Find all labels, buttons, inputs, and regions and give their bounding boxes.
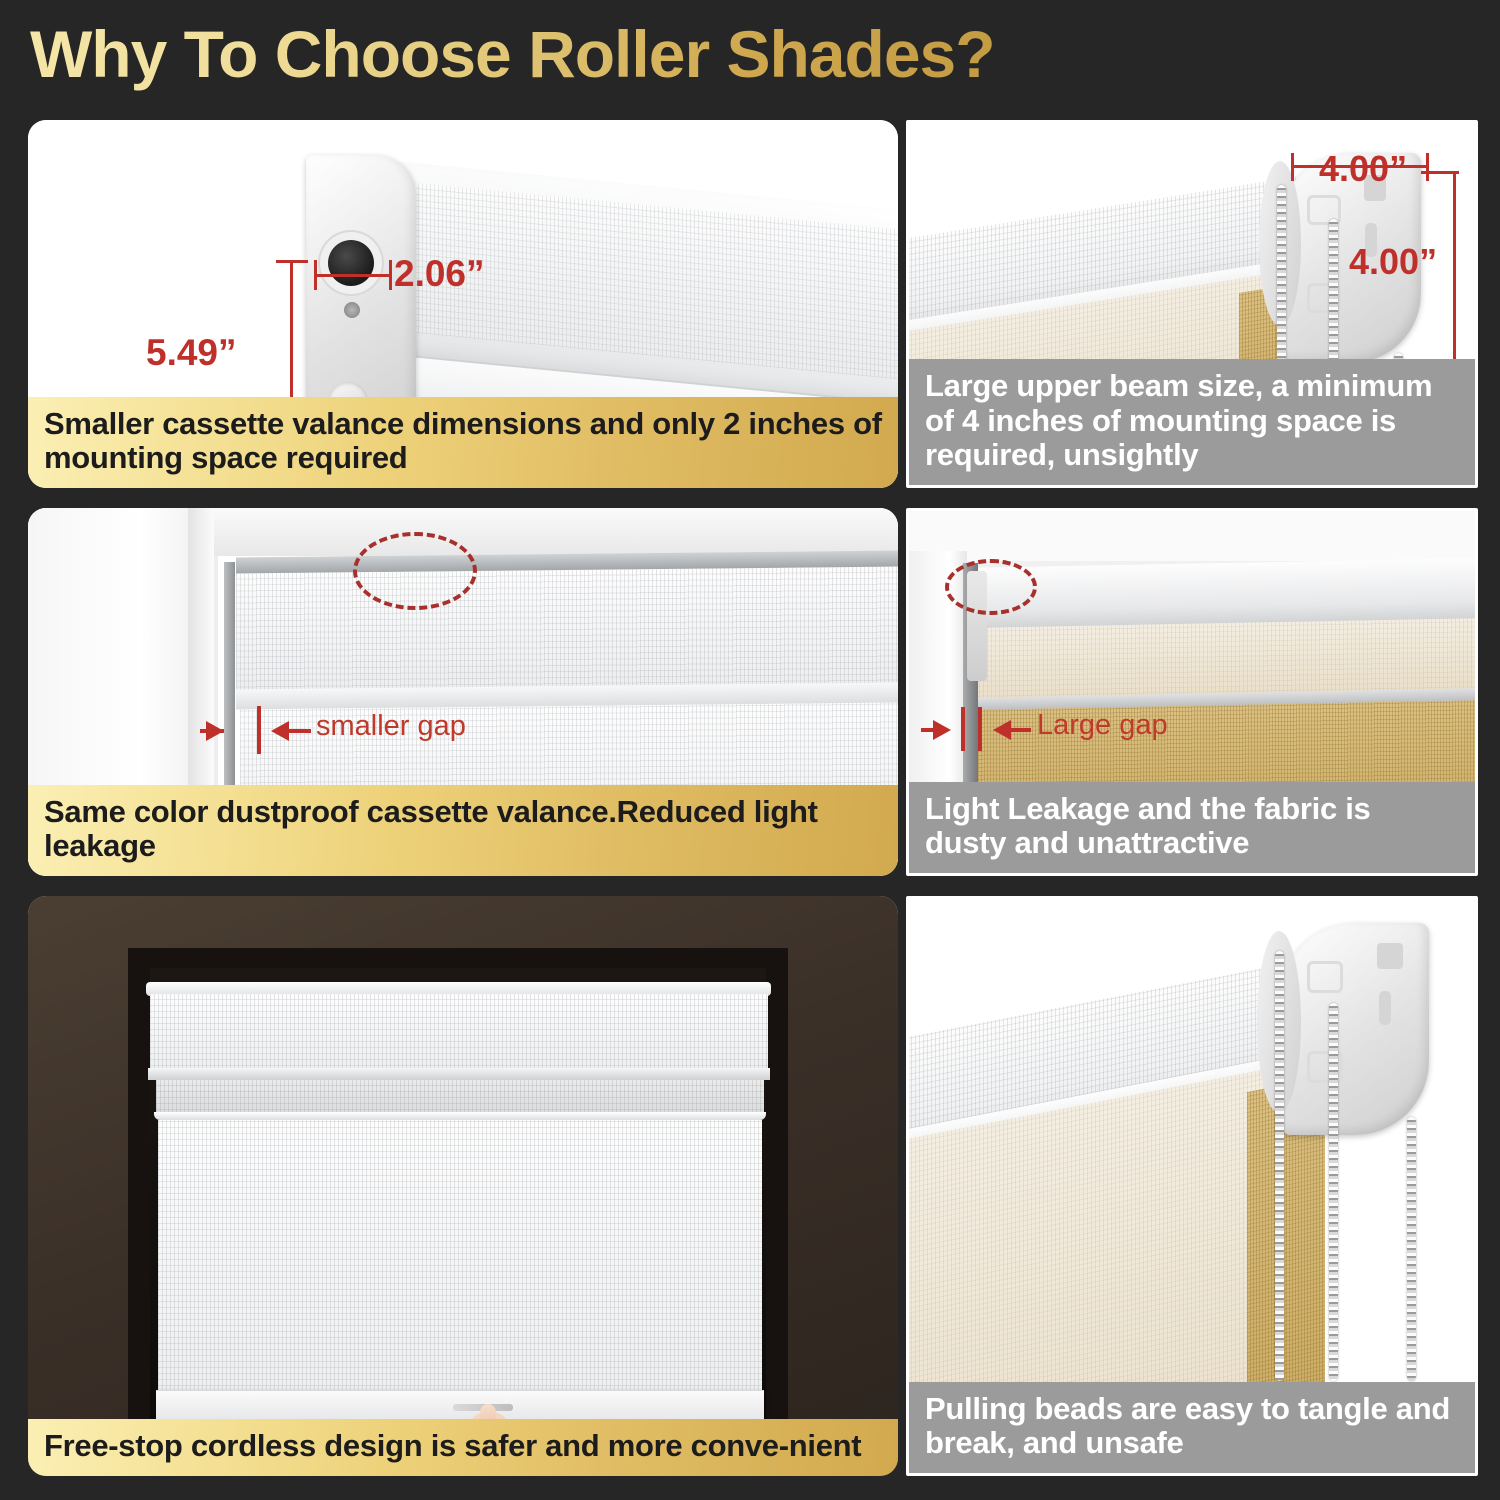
- gap-arrow-left-shaft: [921, 728, 943, 732]
- roller-bracket-end-cap: [1281, 923, 1429, 1135]
- width-dim-tick-right: [389, 260, 392, 290]
- gap-marker-line-left: [961, 707, 965, 751]
- height-dimension-label: 4.00”: [1349, 241, 1437, 283]
- width-dimension-line: [314, 274, 392, 277]
- page-title: Why To Choose Roller Shades?: [30, 16, 995, 92]
- cordless-window-photo: [28, 896, 898, 1476]
- gap-arrow-left-shaft: [200, 729, 224, 733]
- panel-caption: Light Leakage and the fabric is dusty an…: [909, 782, 1475, 873]
- panel-pulling-beads: Pulling beads are easy to tangle and bre…: [906, 896, 1478, 1476]
- panel-caption: Same color dustproof cassette valance.Re…: [28, 785, 898, 876]
- gap-arrow-right-shaft: [287, 729, 311, 733]
- width-dim-tick-right: [1426, 153, 1429, 181]
- panel-light-leakage: Large gap Light Leakage and the fabric i…: [906, 508, 1478, 876]
- width-dimension-label: 4.00”: [1319, 148, 1407, 190]
- highlight-ellipse: [945, 559, 1037, 615]
- width-dimension-label: 2.06”: [394, 253, 485, 295]
- gap-label: smaller gap: [316, 710, 466, 743]
- width-dim-tick-left: [1291, 153, 1294, 181]
- panel-caption: Smaller cassette valance dimensions and …: [28, 397, 898, 488]
- panel-caption: Large upper beam size, a minimum of 4 in…: [909, 359, 1475, 485]
- width-dim-tick-left: [314, 260, 317, 290]
- panel-caption: Free-stop cordless design is safer and m…: [28, 1419, 898, 1476]
- highlight-ellipse: [353, 532, 477, 610]
- height-dim-tick-top: [1421, 171, 1459, 174]
- height-dimension-line: [1453, 171, 1456, 361]
- bead-chain: [1275, 951, 1284, 1381]
- title-bar: Why To Choose Roller Shades?: [0, 0, 1500, 110]
- gap-marker-line-right: [978, 707, 982, 751]
- bead-chain: [1329, 1003, 1338, 1381]
- panel-caption: Pulling beads are easy to tangle and bre…: [909, 1382, 1475, 1473]
- height-dim-tick-top: [276, 260, 308, 263]
- panel-large-upper-beam: 4.00” 4.00” Large upper beam size, a min…: [906, 120, 1478, 488]
- panel-dustproof-valance: smaller gap Same color dustproof cassett…: [28, 508, 898, 876]
- panel-free-stop-cordless: Free-stop cordless design is safer and m…: [28, 896, 898, 1476]
- gap-arrow-right-shaft: [1009, 728, 1031, 732]
- panel-smaller-cassette: 2.06” 5.49” Smaller cassette valance dim…: [28, 120, 898, 488]
- gap-marker-line: [257, 706, 261, 754]
- bead-chain: [1407, 1117, 1416, 1381]
- gap-label: Large gap: [1037, 709, 1168, 742]
- height-dimension-label: 5.49”: [146, 332, 237, 374]
